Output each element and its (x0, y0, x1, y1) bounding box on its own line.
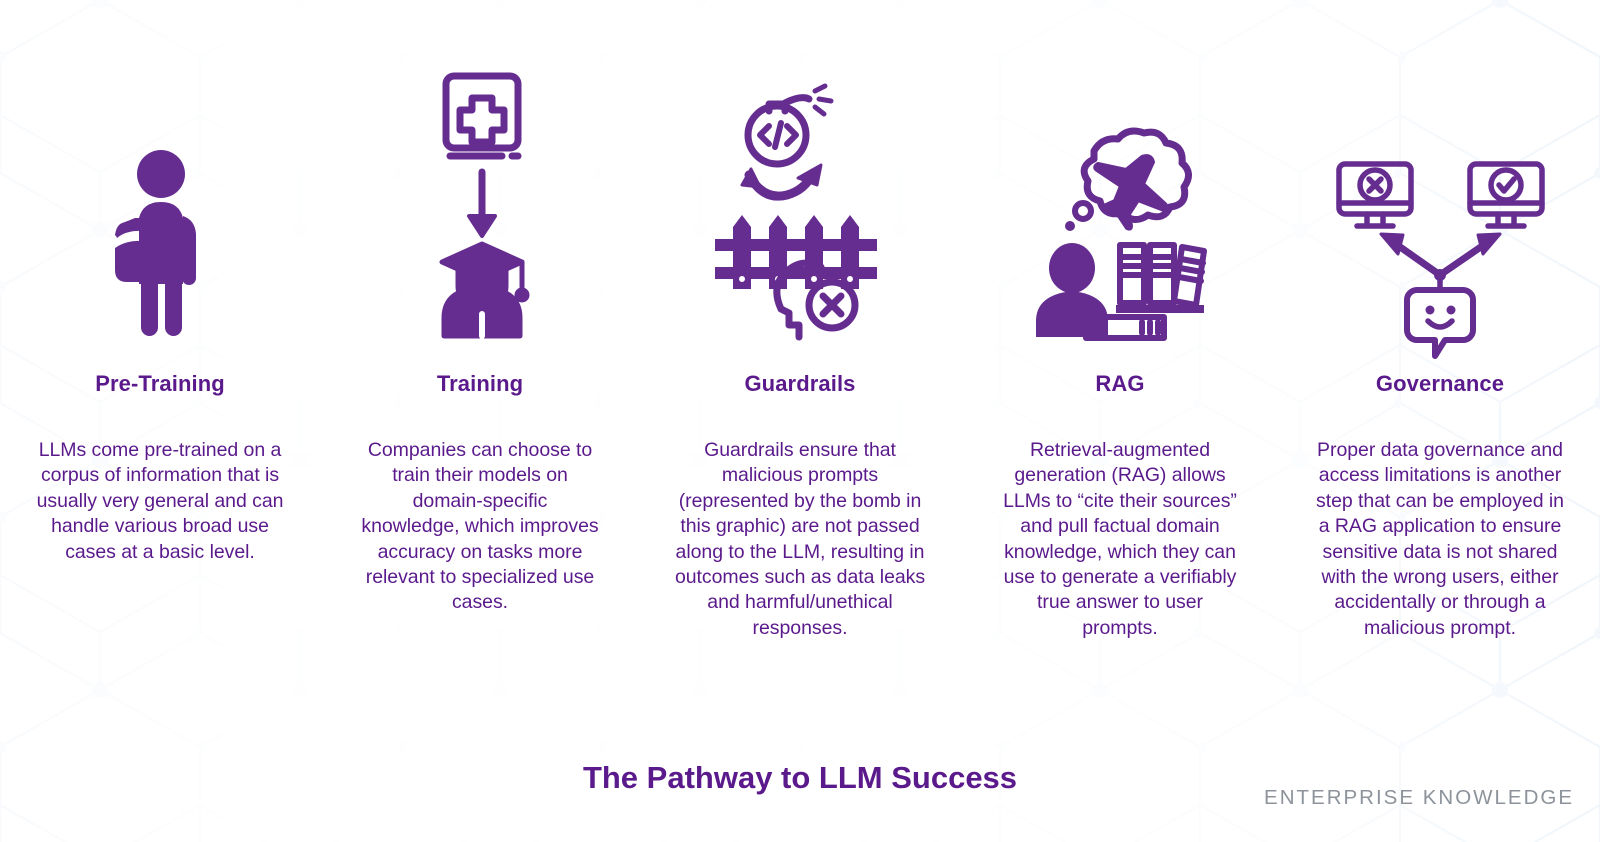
column-governance: Governance Proper data governance and ac… (1280, 0, 1600, 842)
student-with-backpack-icon (30, 0, 290, 350)
column-title: Training (320, 372, 640, 396)
column-title: Governance (1280, 372, 1600, 396)
column-body: Retrieval-augmented generation (RAG) all… (997, 438, 1243, 641)
column-pre-training: Pre-Training LLMs come pre-trained on a … (0, 0, 320, 842)
chatbot-two-monitors-allow-deny-icon (1310, 0, 1570, 350)
monitor-approved (1470, 164, 1542, 226)
monitor-denied (1339, 164, 1411, 226)
bomb-fence-blocked-head-icon (670, 0, 930, 350)
pathway-columns: Pre-Training LLMs come pre-trained on a … (0, 0, 1600, 842)
column-body: Companies can choose to train their mode… (361, 438, 599, 616)
column-title: Pre-Training (0, 372, 320, 396)
column-title: Guardrails (640, 372, 960, 396)
medical-book-arrow-graduate-icon (350, 0, 610, 350)
column-body: Guardrails ensure that malicious prompts… (674, 438, 926, 641)
thought-bubble-airplane-person-books-icon (990, 0, 1250, 350)
column-training: Training Companies can choose to train t… (320, 0, 640, 842)
column-body: Proper data governance and access limita… (1314, 438, 1566, 641)
column-guardrails: Guardrails Guardrails ensure that malici… (640, 0, 960, 842)
column-rag: RAG Retrieval-augmented generation (RAG)… (960, 0, 1280, 842)
infographic-canvas: Pre-Training LLMs come pre-trained on a … (0, 0, 1600, 842)
enterprise-knowledge-logo: ENTERPRISE KNOWLEDGE (1264, 786, 1574, 810)
column-title: RAG (960, 372, 1280, 396)
column-body: LLMs come pre-trained on a corpus of inf… (36, 438, 284, 565)
